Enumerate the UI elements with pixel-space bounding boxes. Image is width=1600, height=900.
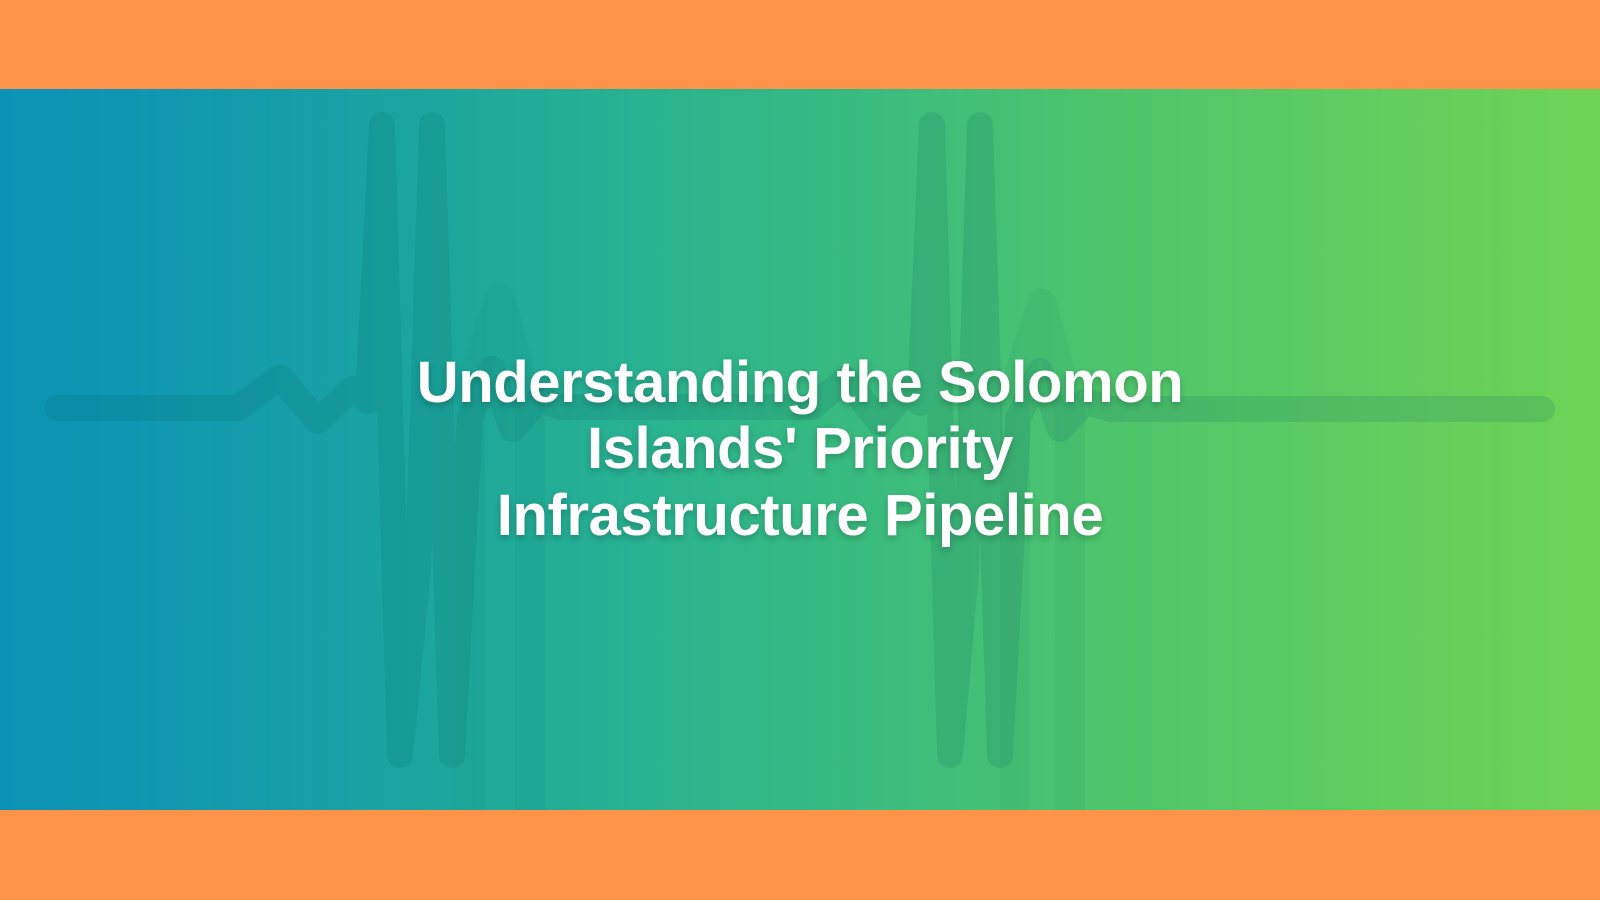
hero-banner: Understanding the Solomon Islands' Prior…: [0, 89, 1600, 810]
bottom-accent-band: [0, 810, 1600, 900]
page-title: Understanding the Solomon Islands' Prior…: [360, 350, 1240, 548]
top-accent-band: [0, 0, 1600, 89]
headline-container: Understanding the Solomon Islands' Prior…: [0, 89, 1600, 810]
banner-canvas: Understanding the Solomon Islands' Prior…: [0, 0, 1600, 900]
title-line-3: Infrastructure Pipeline: [360, 483, 1240, 549]
title-line-2: Islands' Priority: [360, 416, 1240, 482]
title-line-1: Understanding the Solomon: [360, 350, 1240, 416]
